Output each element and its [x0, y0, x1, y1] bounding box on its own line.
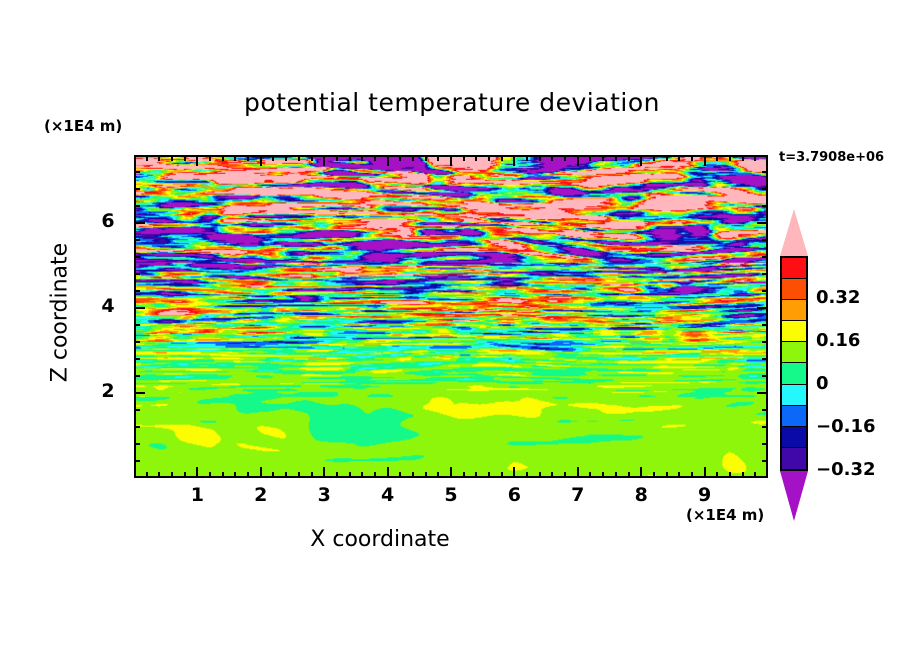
x-top-major-tick-7	[640, 155, 642, 166]
colorbar-band-7	[782, 406, 806, 427]
x-top-minor-tick	[158, 155, 160, 161]
y-right-minor-tick	[762, 290, 768, 292]
x-minor-tick	[729, 472, 731, 478]
y-right-minor-tick	[762, 324, 768, 326]
x-top-major-tick-5	[513, 155, 515, 166]
x-top-major-tick-3	[387, 155, 389, 166]
x-major-tick-5	[513, 467, 515, 478]
x-minor-tick	[628, 472, 630, 478]
y-minor-tick	[134, 358, 140, 360]
x-minor-tick	[184, 472, 186, 478]
y-right-minor-tick	[762, 171, 768, 173]
x-top-minor-tick	[234, 155, 236, 161]
x-top-minor-tick	[272, 155, 274, 161]
x-minor-tick	[564, 472, 566, 478]
x-top-minor-tick	[488, 155, 490, 161]
x-major-tick-7	[640, 467, 642, 478]
x-minor-tick	[501, 472, 503, 478]
x-top-minor-tick	[463, 155, 465, 161]
x-minor-tick	[691, 472, 693, 478]
y-right-major-tick-0	[757, 392, 768, 394]
x-minor-tick	[222, 472, 224, 478]
y-right-major-tick-1	[757, 307, 768, 309]
x-major-tick-4	[450, 467, 452, 478]
time-stamp-label: t=3.7908e+06	[779, 150, 884, 165]
x-minor-tick	[272, 472, 274, 478]
x-top-minor-tick	[602, 155, 604, 161]
x-minor-tick	[336, 472, 338, 478]
x-top-minor-tick	[298, 155, 300, 161]
x-top-minor-tick	[311, 155, 313, 161]
x-minor-tick	[349, 472, 351, 478]
x-minor-tick	[311, 472, 313, 478]
contour-field-canvas	[136, 157, 766, 476]
x-top-minor-tick	[589, 155, 591, 161]
x-top-minor-tick	[754, 155, 756, 161]
y-right-minor-tick	[762, 188, 768, 190]
contour-plot-area	[134, 155, 768, 478]
x-major-tick-3	[387, 467, 389, 478]
y-minor-tick	[134, 188, 140, 190]
y-major-tick-0	[134, 392, 145, 394]
y-minor-tick	[134, 324, 140, 326]
y-right-minor-tick	[762, 460, 768, 462]
x-top-minor-tick	[412, 155, 414, 161]
y-right-minor-tick	[762, 256, 768, 258]
x-minor-tick	[551, 472, 553, 478]
x-top-minor-tick	[399, 155, 401, 161]
x-top-minor-tick	[564, 155, 566, 161]
y-major-tick-2	[134, 222, 145, 224]
x-top-minor-tick	[551, 155, 553, 161]
colorbar-band-3	[782, 321, 806, 342]
colorbar-under-cap	[780, 471, 808, 521]
x-minor-tick	[412, 472, 414, 478]
x-minor-tick	[158, 472, 160, 478]
y-right-minor-tick	[762, 273, 768, 275]
y-right-minor-tick	[762, 443, 768, 445]
x-axis-title: X coordinate	[0, 527, 760, 552]
y-right-minor-tick	[762, 341, 768, 343]
x-top-minor-tick	[374, 155, 376, 161]
y-tick-label-0: 2	[92, 380, 124, 402]
y-minor-tick	[134, 426, 140, 428]
x-minor-tick	[361, 472, 363, 478]
x-top-minor-tick	[539, 155, 541, 161]
colorbar-tick-label-2: 0	[816, 373, 829, 394]
colorbar-tick-label-4: −0.32	[816, 459, 876, 480]
x-top-major-tick-0	[196, 155, 198, 166]
x-tick-label-0: 1	[177, 484, 217, 506]
colorbar-tick-label-3: −0.16	[816, 416, 876, 437]
colorbar-band-4	[782, 342, 806, 363]
x-tick-label-3: 4	[368, 484, 408, 506]
y-tick-label-1: 4	[92, 295, 124, 317]
x-minor-tick	[589, 472, 591, 478]
y-right-minor-tick	[762, 375, 768, 377]
colorbar-band-6	[782, 385, 806, 406]
x-top-minor-tick	[742, 155, 744, 161]
x-minor-tick	[539, 472, 541, 478]
x-top-minor-tick	[361, 155, 363, 161]
x-top-minor-tick	[691, 155, 693, 161]
x-minor-tick	[754, 472, 756, 478]
x-minor-tick	[716, 472, 718, 478]
x-tick-label-6: 7	[558, 484, 598, 506]
x-major-tick-1	[260, 467, 262, 478]
x-top-minor-tick	[729, 155, 731, 161]
x-top-minor-tick	[615, 155, 617, 161]
y-major-tick-1	[134, 307, 145, 309]
x-top-minor-tick	[349, 155, 351, 161]
x-tick-label-4: 5	[431, 484, 471, 506]
x-top-minor-tick	[146, 155, 148, 161]
x-tick-label-2: 3	[304, 484, 344, 506]
x-minor-tick	[285, 472, 287, 478]
x-minor-tick	[374, 472, 376, 478]
colorbar-over-cap	[780, 209, 808, 256]
x-top-minor-tick	[475, 155, 477, 161]
y-minor-tick	[134, 205, 140, 207]
x-tick-label-8: 9	[685, 484, 725, 506]
x-top-minor-tick	[171, 155, 173, 161]
colorbar-tick-label-0: 0.32	[816, 287, 860, 308]
x-minor-tick	[171, 472, 173, 478]
colorbar-band-5	[782, 363, 806, 384]
x-top-minor-tick	[247, 155, 249, 161]
x-top-minor-tick	[501, 155, 503, 161]
x-minor-tick	[437, 472, 439, 478]
colorbar-band-2	[782, 300, 806, 321]
x-top-minor-tick	[437, 155, 439, 161]
y-minor-tick	[134, 460, 140, 462]
x-top-minor-tick	[666, 155, 668, 161]
x-minor-tick	[653, 472, 655, 478]
x-top-major-tick-6	[577, 155, 579, 166]
x-major-tick-2	[323, 467, 325, 478]
x-minor-tick	[234, 472, 236, 478]
x-minor-tick	[399, 472, 401, 478]
y-right-minor-tick	[762, 409, 768, 411]
x-top-minor-tick	[184, 155, 186, 161]
x-minor-tick	[475, 472, 477, 478]
y-right-minor-tick	[762, 358, 768, 360]
x-minor-tick	[666, 472, 668, 478]
x-major-tick-8	[704, 467, 706, 478]
z-axis-unit-label: (×1E4 m)	[44, 117, 122, 135]
page-title: potential temperature deviation	[0, 88, 904, 117]
x-minor-tick	[742, 472, 744, 478]
y-right-minor-tick	[762, 426, 768, 428]
y-minor-tick	[134, 290, 140, 292]
colorbar-band-9	[782, 448, 806, 469]
x-top-major-tick-1	[260, 155, 262, 166]
y-minor-tick	[134, 239, 140, 241]
x-minor-tick	[615, 472, 617, 478]
x-minor-tick	[526, 472, 528, 478]
y-right-minor-tick	[762, 205, 768, 207]
y-minor-tick	[134, 375, 140, 377]
x-tick-label-1: 2	[241, 484, 281, 506]
x-minor-tick	[678, 472, 680, 478]
x-minor-tick	[488, 472, 490, 478]
y-axis-title: Z coordinate	[48, 193, 73, 433]
y-minor-tick	[134, 443, 140, 445]
x-minor-tick	[209, 472, 211, 478]
x-top-minor-tick	[222, 155, 224, 161]
x-top-minor-tick	[425, 155, 427, 161]
colorbar-band-1	[782, 279, 806, 300]
x-major-tick-0	[196, 467, 198, 478]
x-minor-tick	[146, 472, 148, 478]
x-axis-unit-label: (×1E4 m)	[686, 506, 764, 524]
x-minor-tick	[247, 472, 249, 478]
x-top-minor-tick	[653, 155, 655, 161]
colorbar-tick-label-1: 0.16	[816, 330, 860, 351]
colorbar-band-0	[782, 258, 806, 279]
x-top-minor-tick	[716, 155, 718, 161]
x-minor-tick	[425, 472, 427, 478]
y-minor-tick	[134, 409, 140, 411]
y-minor-tick	[134, 341, 140, 343]
x-top-minor-tick	[678, 155, 680, 161]
y-minor-tick	[134, 171, 140, 173]
x-top-minor-tick	[628, 155, 630, 161]
x-top-minor-tick	[526, 155, 528, 161]
y-right-major-tick-2	[757, 222, 768, 224]
x-tick-label-5: 6	[494, 484, 534, 506]
x-top-major-tick-8	[704, 155, 706, 166]
colorbar	[780, 256, 808, 471]
x-top-minor-tick	[336, 155, 338, 161]
x-major-tick-6	[577, 467, 579, 478]
x-minor-tick	[463, 472, 465, 478]
y-minor-tick	[134, 273, 140, 275]
y-tick-label-2: 6	[92, 210, 124, 232]
x-top-minor-tick	[209, 155, 211, 161]
x-top-major-tick-2	[323, 155, 325, 166]
x-tick-label-7: 8	[621, 484, 661, 506]
x-minor-tick	[298, 472, 300, 478]
x-top-major-tick-4	[450, 155, 452, 166]
x-top-minor-tick	[285, 155, 287, 161]
colorbar-band-8	[782, 427, 806, 448]
y-minor-tick	[134, 256, 140, 258]
y-right-minor-tick	[762, 239, 768, 241]
x-minor-tick	[602, 472, 604, 478]
